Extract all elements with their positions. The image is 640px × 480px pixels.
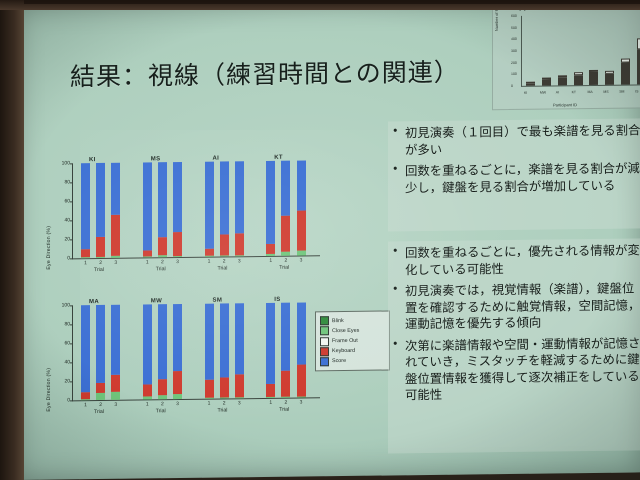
chart-bottom-plot-area: 020406080100MA123TrialMW123TrialSM123Tri… bbox=[72, 302, 320, 401]
inset-chart: (A) 1st Trial Number of Fixations Partic… bbox=[492, 2, 640, 110]
chart-bar-segment-keyboard bbox=[81, 393, 90, 400]
x-axis-tick-label: 2 bbox=[285, 258, 288, 264]
chart-bar-segment-score bbox=[281, 161, 290, 216]
legend-item: Frame Out bbox=[320, 336, 386, 346]
chart-bar bbox=[235, 161, 244, 256]
x-axis-tick-label: 1 bbox=[146, 401, 149, 407]
inset-y-tick-label: 500 bbox=[511, 26, 517, 30]
x-axis-tick-label: 3 bbox=[176, 259, 179, 265]
inset-plot-area: 0100200300400500600KIMWAIKTMAMSSMIS bbox=[521, 14, 640, 87]
x-axis-label: Trial bbox=[217, 265, 227, 271]
chart-bar-segment-keyboard bbox=[220, 378, 229, 398]
y-axis-tick-mark bbox=[70, 343, 73, 344]
chart-bar-segment-keyboard bbox=[281, 216, 290, 252]
chart-bar bbox=[143, 304, 152, 399]
chart-top-ylabel: Eye Direction (%) bbox=[46, 226, 52, 270]
chart-group-label: AI bbox=[213, 156, 220, 162]
chart-bar-segment-keyboard bbox=[281, 371, 290, 397]
chart-group-label: KI bbox=[89, 157, 96, 163]
x-axis-tick-label: 3 bbox=[300, 258, 303, 264]
chart-bar bbox=[143, 162, 152, 257]
chart-bar-segment-score bbox=[96, 163, 105, 237]
chart-bar-segment-keyboard bbox=[96, 237, 105, 257]
x-axis-tick-label: 2 bbox=[99, 260, 102, 266]
inset-x-tick-label: SM bbox=[619, 90, 624, 94]
eye-direction-chart-top: Eye Direction (%) 020406080100KI123Trial… bbox=[42, 154, 322, 277]
legend-swatch-icon bbox=[320, 347, 329, 356]
x-axis-tick-label: 2 bbox=[285, 400, 288, 406]
chart-bar-segment-keyboard bbox=[235, 233, 244, 255]
chart-bar bbox=[173, 304, 182, 399]
chart-bar-segment-score bbox=[96, 305, 105, 383]
chart-bar bbox=[96, 305, 105, 400]
inset-y-tick-label: 300 bbox=[511, 49, 517, 53]
chart-bar bbox=[205, 162, 214, 257]
photo-edge-top-inner bbox=[24, 0, 640, 4]
bullet-group-a: 初見演奏（１回目）で最も楽譜を見る割合が多い回数を重ねるごとに，楽譜を見る割合が… bbox=[388, 118, 640, 231]
chart-bar-segment-keyboard bbox=[111, 375, 120, 392]
chart-bar-segment-close-eyes bbox=[173, 394, 182, 399]
chart-bar bbox=[81, 163, 90, 258]
chart-bar-segment-close-eyes bbox=[266, 397, 275, 398]
chart-bar-segment-keyboard bbox=[143, 251, 152, 257]
chart-bar-segment-score bbox=[266, 161, 275, 244]
chart-bar-segment-close-eyes bbox=[81, 257, 90, 258]
chart-bar-segment-close-eyes bbox=[281, 252, 290, 256]
chart-bar bbox=[297, 160, 306, 255]
y-axis-tick-mark bbox=[70, 163, 73, 164]
x-axis-tick-label: 2 bbox=[161, 401, 164, 407]
chart-top-plot-area: 020406080100KI123TrialMS123TrialAI123Tri… bbox=[72, 160, 320, 259]
chart-bar bbox=[266, 303, 275, 398]
chart-bar-segment-keyboard bbox=[111, 215, 120, 256]
chart-bar-segment-score bbox=[173, 162, 182, 232]
chart-bar-segment-score bbox=[235, 161, 244, 233]
legend-label: Score bbox=[332, 358, 346, 364]
inset-y-tick-label: 200 bbox=[511, 61, 517, 65]
chart-bar-segment-close-eyes bbox=[158, 255, 167, 257]
chart-bar-segment-score bbox=[81, 305, 90, 393]
chart-bar bbox=[111, 305, 120, 400]
chart-bar-segment-score bbox=[111, 305, 120, 375]
page-title: 結果：視線（練習時間との関連） bbox=[70, 53, 460, 94]
chart-bar-segment-close-eyes bbox=[111, 392, 120, 400]
chart-bar bbox=[96, 163, 105, 258]
inset-x-tick-label: MW bbox=[540, 91, 546, 95]
bullet-item: 次第に楽譜情報や空間・運動情報が記憶されていき，ミスタッチを軽減するために鍵盤位… bbox=[390, 335, 640, 404]
chart-bar-segment-score bbox=[235, 303, 244, 374]
chart-bar-segment-score bbox=[205, 304, 214, 380]
chart-bar bbox=[205, 304, 214, 399]
x-axis-tick-label: 1 bbox=[208, 401, 211, 407]
x-axis-tick-label: 2 bbox=[161, 259, 164, 265]
inset-chart-bar bbox=[542, 80, 551, 86]
chart-bar-segment-keyboard bbox=[205, 249, 214, 256]
legend-item: Score bbox=[320, 356, 386, 366]
chart-bar-segment-close-eyes bbox=[81, 399, 90, 400]
chart-bar-segment-score bbox=[111, 163, 120, 215]
inset-chart-bar-error bbox=[621, 59, 630, 63]
inset-y-tick-label: 600 bbox=[511, 14, 517, 18]
x-axis-tick-label: 2 bbox=[223, 258, 226, 264]
photo-edge-left bbox=[0, 0, 24, 480]
legend-swatch-icon bbox=[320, 357, 329, 366]
inset-y-tick-label: 0 bbox=[511, 84, 513, 88]
y-axis-tick-mark bbox=[70, 201, 73, 202]
chart-bar bbox=[281, 303, 290, 398]
chart-bar-segment-close-eyes bbox=[220, 397, 229, 398]
chart-bar-segment-score bbox=[143, 162, 152, 250]
chart-bar-segment-keyboard bbox=[158, 379, 167, 395]
chart-bar-segment-score bbox=[266, 303, 275, 384]
x-axis-tick-label: 3 bbox=[238, 400, 241, 406]
inset-x-tick-label: MA bbox=[587, 90, 592, 94]
chart-bar-segment-score bbox=[81, 163, 90, 249]
chart-bar-segment-close-eyes bbox=[281, 397, 290, 398]
x-axis-tick-label: 3 bbox=[300, 400, 303, 406]
inset-chart-bar bbox=[558, 78, 567, 86]
chart-bar-segment-keyboard bbox=[96, 383, 105, 394]
x-axis-tick-label: 2 bbox=[99, 402, 102, 408]
bullet-item: 初見演奏では，視覚情報（楽譜），鍵盤位置を確認するために触覚情報，空間記憶，運動… bbox=[390, 280, 640, 333]
chart-bar-segment-keyboard bbox=[266, 244, 275, 255]
chart-bar bbox=[81, 305, 90, 400]
inset-chart-bar bbox=[526, 83, 535, 85]
chart-bar-segment-keyboard bbox=[266, 384, 275, 397]
y-axis-tick-mark bbox=[70, 324, 73, 325]
x-axis-tick-label: 1 bbox=[208, 259, 211, 265]
chart-bar bbox=[266, 161, 275, 256]
chart-bar-segment-close-eyes bbox=[143, 397, 152, 400]
eye-direction-chart-bottom: Eye Direction (%) 020406080100MA123Trial… bbox=[42, 296, 322, 419]
x-axis-tick-label: 3 bbox=[114, 402, 117, 408]
inset-y-tick-label: 400 bbox=[511, 37, 517, 41]
chart-bar-segment-keyboard bbox=[235, 375, 244, 398]
x-axis-label: Trial bbox=[217, 407, 227, 413]
chart-bar-segment-score bbox=[143, 304, 152, 384]
legend-item: Keyboard bbox=[320, 346, 386, 356]
chart-bar-segment-score bbox=[173, 304, 182, 371]
x-axis-label: Trial bbox=[279, 265, 289, 271]
x-axis-label: Trial bbox=[156, 408, 166, 414]
chart-bar bbox=[281, 161, 290, 256]
chart-bar-segment-close-eyes bbox=[111, 256, 120, 258]
legend-item: Close Eyes bbox=[320, 326, 386, 336]
chart-bar bbox=[220, 303, 229, 398]
inset-chart-bar bbox=[621, 63, 630, 85]
inset-chart-bar bbox=[574, 75, 583, 85]
x-axis-label: Trial bbox=[156, 266, 166, 272]
chart-bar-segment-keyboard bbox=[220, 235, 229, 256]
chart-bar-segment-keyboard bbox=[143, 384, 152, 396]
inset-x-tick-label: KI bbox=[524, 91, 527, 95]
inset-chart-bar-error bbox=[542, 78, 551, 80]
inset-chart-bar-error bbox=[605, 71, 614, 74]
x-axis-label: Trial bbox=[279, 407, 289, 413]
x-axis-tick-label: 3 bbox=[114, 260, 117, 266]
chart-bar-segment-close-eyes bbox=[205, 256, 214, 257]
inset-x-tick-label: MS bbox=[603, 90, 608, 94]
inset-chart-bar-error bbox=[589, 70, 598, 72]
bullet-item: 回数を重ねるごとに，楽譜を見る割合が減少し，鍵盤を見る割合が増加している bbox=[390, 160, 640, 196]
inset-x-tick-label: AI bbox=[556, 90, 559, 94]
x-axis-tick-label: 3 bbox=[176, 401, 179, 407]
y-axis-tick-label: 100 bbox=[62, 302, 70, 308]
inset-chart-bar bbox=[589, 72, 598, 85]
y-axis-tick-label: 100 bbox=[62, 160, 70, 166]
chart-bottom-ylabel: Eye Direction (%) bbox=[46, 368, 52, 412]
chart-bar-segment-score bbox=[297, 302, 306, 364]
chart-bar bbox=[220, 161, 229, 256]
chart-bar-segment-keyboard bbox=[297, 364, 306, 396]
legend-swatch-icon bbox=[320, 337, 329, 346]
chart-bar-segment-close-eyes bbox=[143, 256, 152, 257]
y-axis-tick-mark bbox=[70, 362, 73, 363]
chart-legend: BlinkClose EyesFrame OutKeyboardScore bbox=[315, 310, 390, 371]
chart-bar-segment-close-eyes bbox=[235, 397, 244, 398]
inset-x-tick-label: KT bbox=[572, 90, 576, 94]
y-axis-tick-mark bbox=[70, 381, 73, 382]
chart-bar bbox=[297, 302, 306, 397]
chart-bar-segment-close-eyes bbox=[220, 255, 229, 256]
inset-y-tick-label: 100 bbox=[511, 72, 517, 76]
x-axis-tick-label: 3 bbox=[238, 258, 241, 264]
inset-chart-bar-error bbox=[526, 81, 535, 83]
chart-bar-segment-close-eyes bbox=[297, 397, 306, 398]
legend-swatch-icon bbox=[320, 316, 329, 325]
inset-chart-xlabel: Participant ID bbox=[553, 102, 577, 107]
x-axis-tick-label: 1 bbox=[84, 402, 87, 408]
x-axis-tick-label: 1 bbox=[269, 400, 272, 406]
chart-bar-segment-score bbox=[220, 303, 229, 377]
chart-bar-segment-close-eyes bbox=[205, 398, 214, 399]
x-axis-tick-label: 2 bbox=[223, 400, 226, 406]
chart-bar-segment-close-eyes bbox=[297, 251, 306, 256]
inset-x-tick-label: IS bbox=[635, 89, 638, 93]
bullet-item: 初見演奏（１回目）で最も楽譜を見る割合が多い bbox=[390, 122, 640, 158]
presentation-slide: 結果：視線（練習時間との関連） (A) 1st Trial Number of … bbox=[18, 0, 640, 480]
y-axis-tick-mark bbox=[70, 258, 73, 259]
chart-bar bbox=[173, 162, 182, 257]
legend-swatch-icon bbox=[320, 327, 329, 336]
legend-label: Keyboard bbox=[332, 348, 355, 354]
chart-bar-segment-keyboard bbox=[297, 211, 306, 251]
chart-bar-segment-close-eyes bbox=[266, 254, 275, 256]
x-axis-tick-label: 1 bbox=[269, 258, 272, 264]
inset-chart-bar-error bbox=[574, 72, 583, 75]
chart-bar-segment-keyboard bbox=[81, 249, 90, 258]
y-axis-tick-mark bbox=[70, 182, 73, 183]
y-axis-tick-mark bbox=[70, 239, 73, 240]
bullet-item: 回数を重ねるごとに，優先される情報が変化している可能性 bbox=[390, 242, 640, 278]
chart-bar-segment-keyboard bbox=[173, 232, 182, 256]
chart-bar-segment-score bbox=[220, 161, 229, 234]
legend-item: Blink bbox=[320, 316, 386, 326]
chart-bar-segment-close-eyes bbox=[96, 393, 105, 400]
chart-bar-segment-score bbox=[297, 161, 306, 211]
x-axis-label: Trial bbox=[94, 409, 104, 415]
y-axis-tick-mark bbox=[70, 220, 73, 221]
inset-chart-bar bbox=[605, 74, 614, 85]
chart-bar-segment-score bbox=[281, 303, 290, 372]
x-axis-tick-label: 1 bbox=[146, 259, 149, 265]
chart-bar-segment-keyboard bbox=[158, 237, 167, 255]
chart-bar-segment-score bbox=[205, 162, 214, 250]
chart-bar bbox=[235, 303, 244, 398]
chart-bar-segment-close-eyes bbox=[158, 395, 167, 399]
chart-bar-segment-close-eyes bbox=[173, 256, 182, 257]
inset-chart-bar-error bbox=[558, 75, 567, 78]
chart-bar bbox=[158, 162, 167, 257]
bullet-group-b: 回数を重ねるごとに，優先される情報が変化している可能性初見演奏では，視覚情報（楽… bbox=[388, 238, 640, 453]
legend-label: Close Eyes bbox=[332, 328, 359, 334]
chart-bar bbox=[111, 163, 120, 258]
chart-bar-segment-score bbox=[158, 162, 167, 237]
chart-bar-segment-keyboard bbox=[173, 370, 182, 394]
chart-bar-segment-score bbox=[158, 304, 167, 379]
chart-bar-segment-keyboard bbox=[205, 380, 214, 398]
chart-bar-segment-close-eyes bbox=[235, 255, 244, 256]
chart-bar-segment-close-eyes bbox=[96, 257, 105, 258]
y-axis-tick-mark bbox=[70, 400, 73, 401]
legend-label: Blink bbox=[332, 318, 344, 324]
x-axis-tick-label: 1 bbox=[84, 260, 87, 266]
legend-label: Frame Out bbox=[332, 338, 358, 344]
chart-bar bbox=[158, 304, 167, 399]
x-axis-label: Trial bbox=[94, 267, 104, 273]
y-axis-tick-mark bbox=[70, 305, 73, 306]
